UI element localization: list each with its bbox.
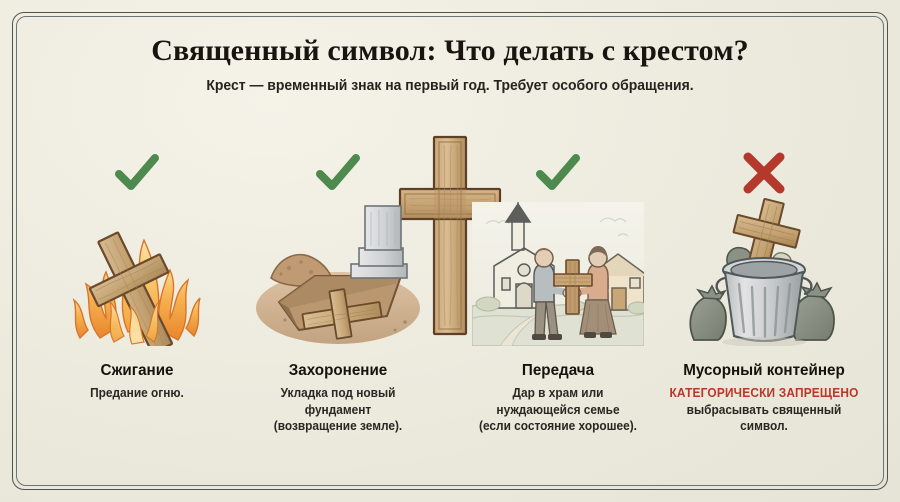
garbage-can-illustration xyxy=(659,196,869,346)
option-burning: Сжигание Предание огню. xyxy=(32,150,242,402)
option-line: Предание огню. xyxy=(90,386,184,400)
option-caption: Мусорный контейнер КАТЕГОРИЧЕСКИ ЗАПРЕЩЕ… xyxy=(659,362,869,435)
option-heading: Сжигание xyxy=(37,362,237,380)
option-heading: Захоронение xyxy=(238,362,438,380)
option-line: фундамент xyxy=(305,403,372,417)
poster: Священный символ: Что делать с крестом? … xyxy=(0,0,900,502)
page-subtitle: Крест — временный знак на первый год. Тр… xyxy=(32,77,869,94)
poster-header: Священный символ: Что делать с крестом? … xyxy=(0,34,900,94)
handover-scene-illustration xyxy=(453,196,663,346)
option-description: Предание огню. xyxy=(37,385,237,402)
option-caption: Захоронение Укладка под новый фундамент … xyxy=(233,362,443,435)
check-mark-icon xyxy=(453,150,663,196)
option-line: (возвращение земле). xyxy=(274,419,402,433)
option-trash: Мусорный контейнер КАТЕГОРИЧЕСКИ ЗАПРЕЩЕ… xyxy=(659,150,869,435)
option-description: Укладка под новый фундамент (возвращение… xyxy=(238,385,438,435)
option-caption: Сжигание Предание огню. xyxy=(32,362,242,402)
prohibition-warning: КАТЕГОРИЧЕСКИ ЗАПРЕЩЕНО xyxy=(669,386,858,400)
option-description: КАТЕГОРИЧЕСКИ ЗАПРЕЩЕНО выбрасывать свящ… xyxy=(664,385,864,435)
option-line: символ. xyxy=(740,419,788,433)
check-mark-icon xyxy=(233,150,443,196)
option-heading: Передача xyxy=(458,362,658,380)
x-mark-icon xyxy=(659,150,869,196)
option-line: выбрасывать священный xyxy=(687,403,842,417)
option-line: нуждающейся семье xyxy=(496,403,619,417)
option-heading: Мусорный контейнер xyxy=(664,362,864,380)
option-handover: Передача Дар в храм или нуждающейся семь… xyxy=(453,150,663,435)
grave-pit-illustration xyxy=(233,196,443,346)
check-mark-icon xyxy=(32,150,242,196)
option-caption: Передача Дар в храм или нуждающейся семь… xyxy=(453,362,663,435)
option-line: (если состояние хорошее). xyxy=(479,419,637,433)
option-line: Укладка под новый xyxy=(281,386,396,400)
option-line: Дар в храм или xyxy=(513,386,604,400)
page-title: Священный символ: Что делать с крестом? xyxy=(0,34,900,67)
option-description: Дар в храм или нуждающейся семье (если с… xyxy=(458,385,658,435)
burning-cross-illustration xyxy=(32,196,242,346)
option-burial: Захоронение Укладка под новый фундамент … xyxy=(233,150,443,435)
